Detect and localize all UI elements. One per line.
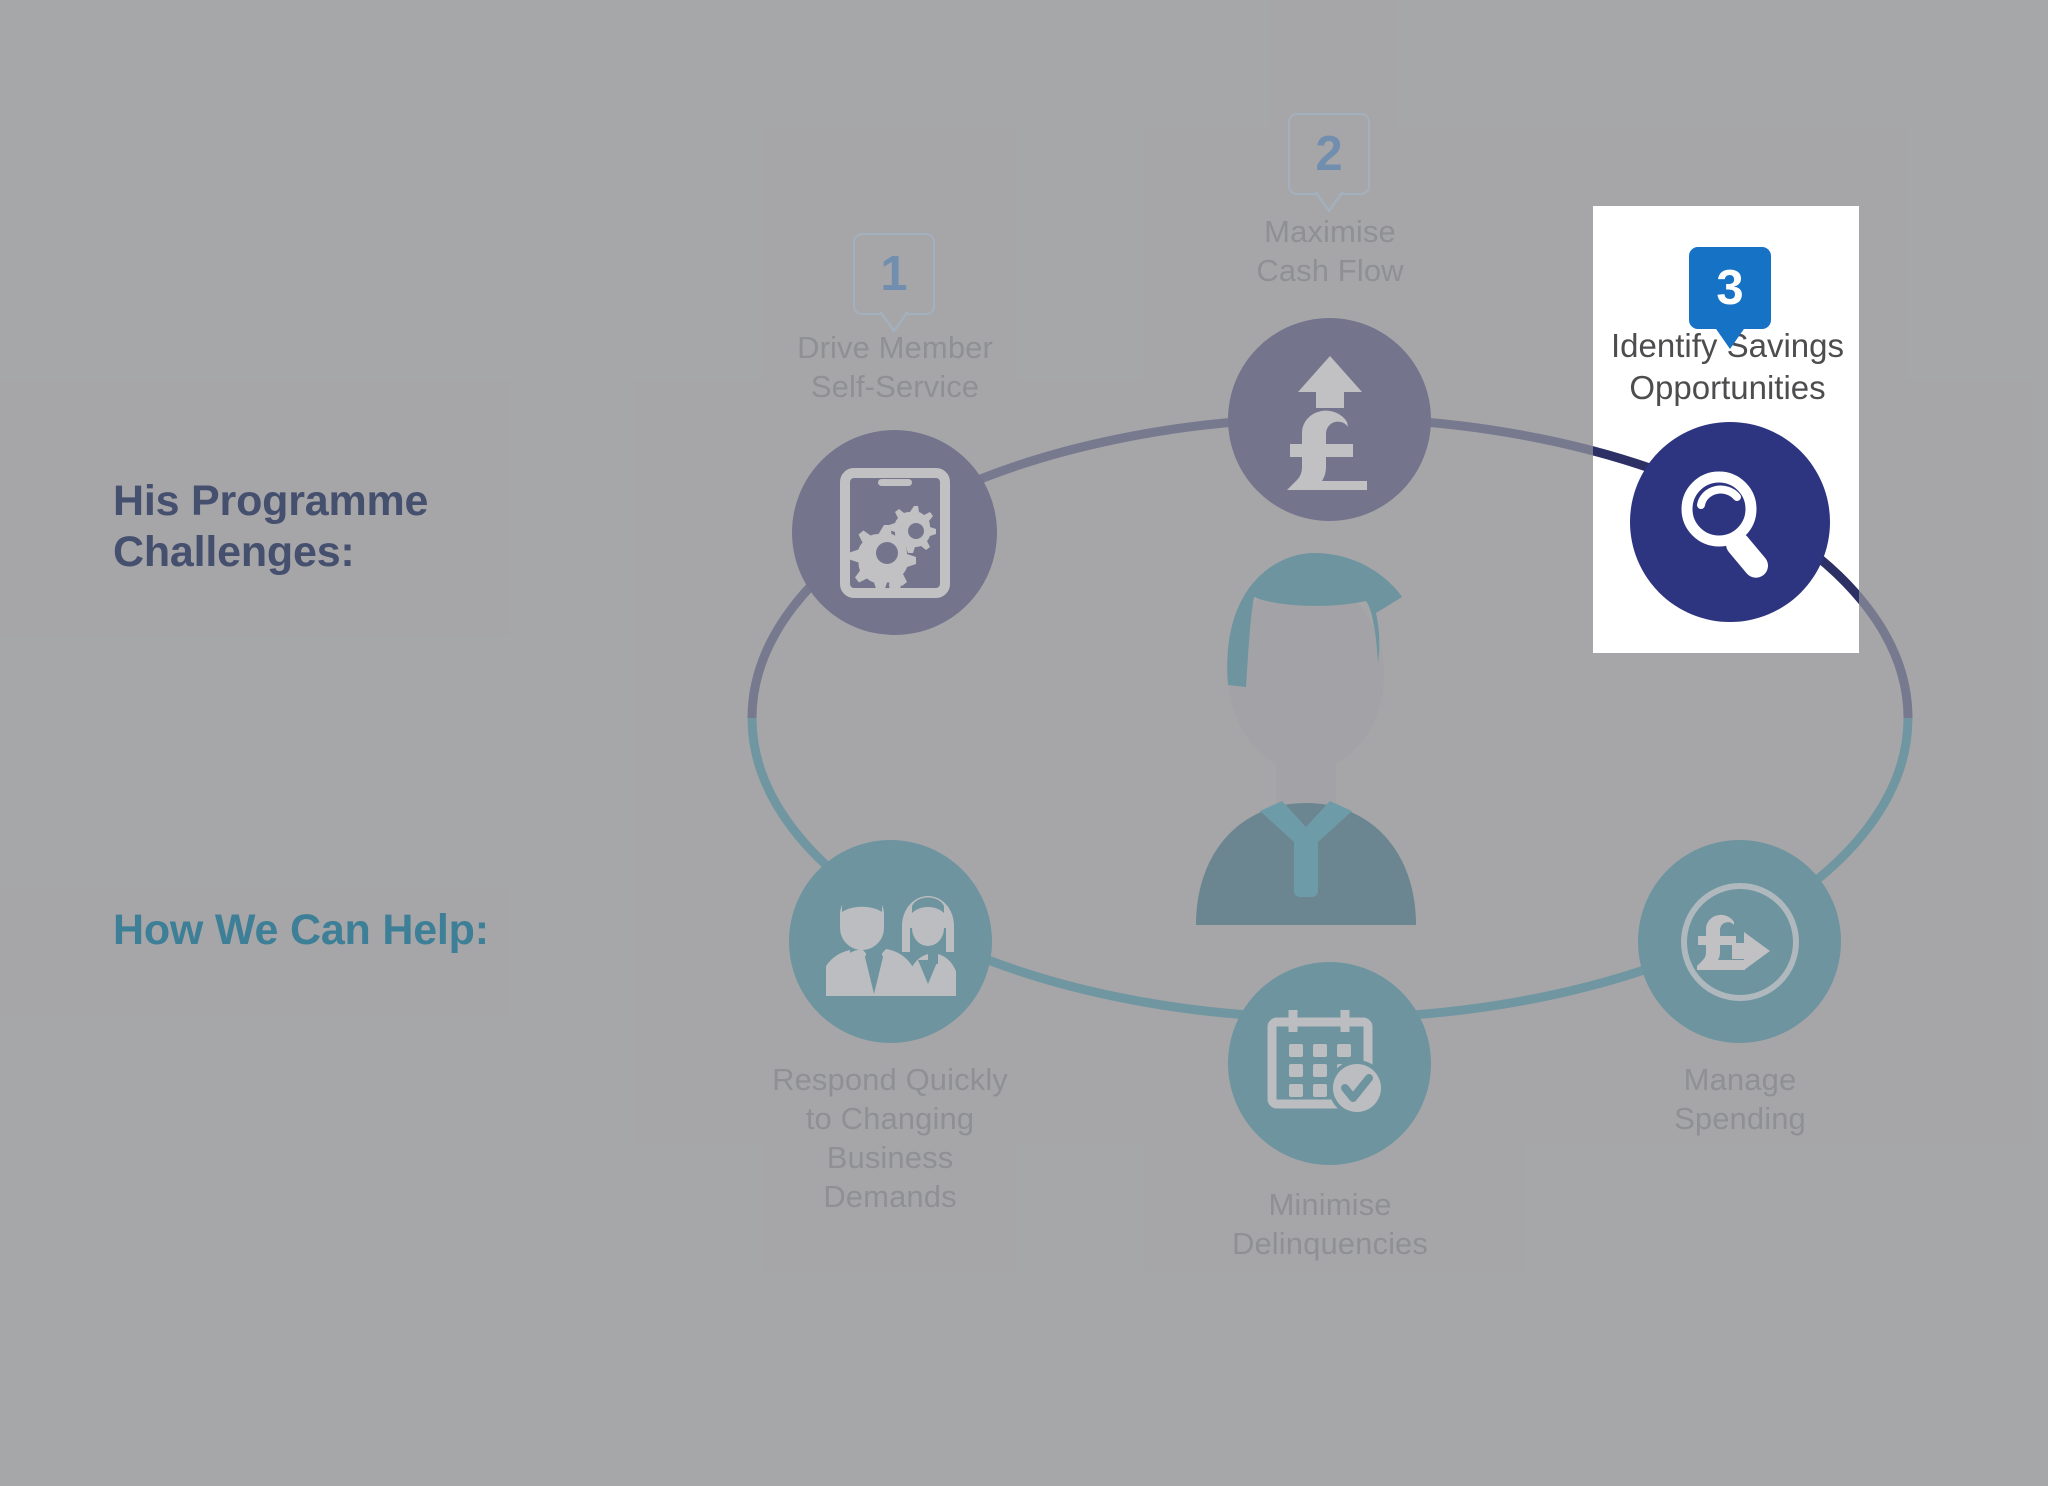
node-minimise-delinquencies[interactable] <box>1228 962 1431 1165</box>
badge-1-number: 1 <box>880 246 907 302</box>
spotlight-badge-number: 3 <box>1716 260 1743 316</box>
arrow-up-pound-icon <box>1270 350 1390 490</box>
heading-programme-challenges: His Programme Challenges: <box>113 476 428 577</box>
calendar-check-icon <box>1267 1006 1393 1122</box>
node-manage-spending[interactable] <box>1638 840 1841 1043</box>
node-label-respond-quickly: Respond Quickly to Changing Business Dem… <box>740 1060 1040 1216</box>
node-label-maximise-cash-flow: Maximise Cash Flow <box>1180 212 1480 290</box>
node-drive-member-self-service[interactable] <box>792 430 997 635</box>
node-respond-quickly-to-changing-business-demands[interactable] <box>789 840 992 1043</box>
magnifying-glass-icon <box>1671 463 1789 581</box>
member-persona-avatar <box>1180 535 1432 930</box>
node-maximise-cash-flow[interactable] <box>1228 318 1431 521</box>
spotlight-content: Identify Savings Opportunities 3 <box>1593 206 1859 653</box>
spotlight-node-magnifier[interactable] <box>1630 422 1830 622</box>
badge-2-number: 2 <box>1315 126 1342 182</box>
pound-arrow-right-icon <box>1678 880 1802 1004</box>
badge-2: 2 <box>1288 113 1370 195</box>
node-label-manage-spending: Manage Spending <box>1590 1060 1890 1138</box>
tablet-gears-icon <box>840 468 950 598</box>
slide-canvas: Drive Member Self-Service 1 Maximise Cas… <box>0 0 2048 1486</box>
badge-2-tail <box>1314 192 1344 213</box>
badge-1: 1 <box>853 233 935 315</box>
highlighted-step-3-panel[interactable]: Identify Savings Opportunities 3 <box>1593 206 1859 653</box>
heading-how-we-can-help: How We Can Help: <box>113 905 489 956</box>
spotlight-badge-3: 3 <box>1689 247 1771 329</box>
spotlight-badge-tail <box>1714 326 1746 349</box>
badge-1-tail <box>879 312 909 333</box>
two-people-icon <box>826 888 956 996</box>
node-label-drive-member-self-service: Drive Member Self-Service <box>745 328 1045 406</box>
node-label-minimise-delinquencies: Minimise Delinquencies <box>1180 1185 1480 1263</box>
